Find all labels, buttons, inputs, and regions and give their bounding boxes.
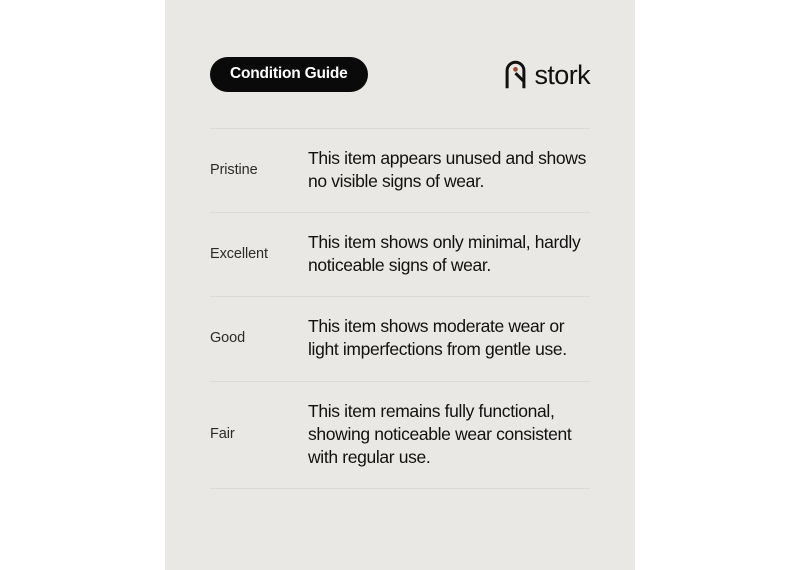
table-row: Pristine This item appears unused and sh… — [210, 129, 590, 212]
condition-label: Excellent — [210, 245, 308, 264]
condition-description: This item remains fully functional, show… — [308, 400, 590, 469]
condition-label: Pristine — [210, 161, 308, 180]
condition-description: This item appears unused and shows no vi… — [308, 147, 590, 193]
table-row: Good This item shows moderate wear or li… — [210, 297, 590, 380]
stork-arch-logo-icon — [504, 59, 527, 89]
card-header: Condition Guide stork — [210, 56, 590, 92]
row-divider — [210, 488, 590, 489]
condition-label: Fair — [210, 425, 308, 444]
condition-description: This item shows moderate wear or light i… — [308, 315, 590, 361]
page-root: Condition Guide stork P — [0, 0, 800, 570]
condition-label: Good — [210, 329, 308, 348]
table-row: Fair This item remains fully functional,… — [210, 382, 590, 488]
condition-guide-badge: Condition Guide — [210, 57, 368, 92]
table-row: Excellent This item shows only minimal, … — [210, 213, 590, 296]
brand-wordmark: stork — [534, 62, 590, 89]
brand-lockup: stork — [504, 56, 590, 92]
condition-guide-card: Condition Guide stork P — [165, 0, 635, 570]
condition-description: This item shows only minimal, hardly not… — [308, 231, 590, 277]
condition-table: Pristine This item appears unused and sh… — [210, 128, 590, 489]
